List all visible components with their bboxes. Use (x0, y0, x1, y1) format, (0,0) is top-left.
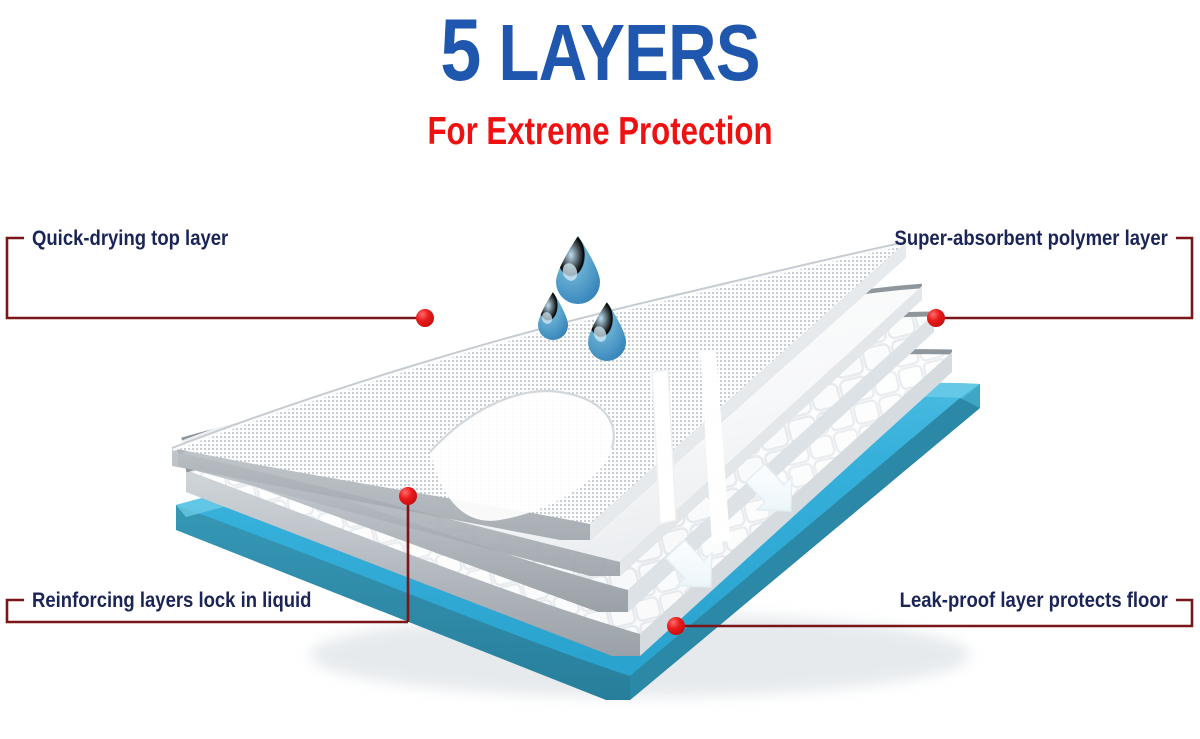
callout-label-leak-proof-layer-protects-floor: Leak-proof layer protects floor (900, 588, 1168, 612)
page-subtitle: For Extreme Protection (120, 110, 1080, 154)
droplet-small (538, 292, 568, 340)
callout-label-super-absorbent-polymer-layer: Super-absorbent polymer layer (895, 226, 1168, 250)
infographic-canvas: 5 LAYERS For Extreme Protection Quick-dr… (0, 0, 1200, 739)
page-title: 5 LAYERS (96, 8, 1104, 95)
leader-top-left (7, 238, 425, 318)
droplet-large (556, 236, 600, 304)
leader-top-right (936, 238, 1192, 318)
title-number: 5 (440, 0, 480, 99)
title-word: LAYERS (481, 8, 760, 97)
dot-super-absorbent-polymer-layer (927, 309, 945, 327)
callout-label-quick-drying-top-layer: Quick-drying top layer (32, 226, 228, 250)
dot-leak-proof-layer (667, 617, 685, 635)
callout-label-reinforcing-layers-lock-in-liquid: Reinforcing layers lock in liquid (32, 588, 311, 612)
dot-reinforcing-layers (399, 487, 417, 505)
dot-quick-drying-top-layer (416, 309, 434, 327)
